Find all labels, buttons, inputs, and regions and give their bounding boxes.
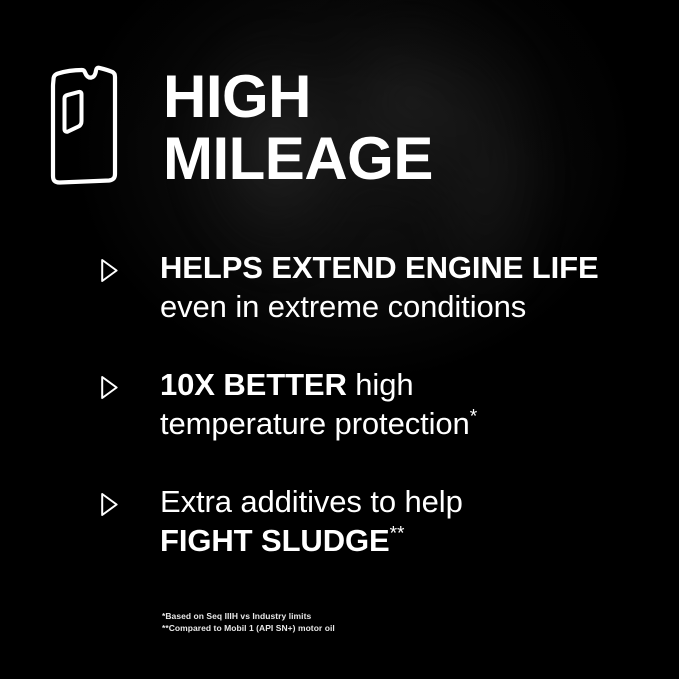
list-item-bold-text: FIGHT SLUDGE xyxy=(160,523,390,558)
footnote-line-2: **Compared to Mobil 1 (API SN+) motor oi… xyxy=(162,622,335,634)
product-feature-poster: HIGH MILEAGE HELPS EXTEND ENGINE LIFE ev… xyxy=(0,0,679,679)
triangle-outline-icon xyxy=(100,258,119,283)
list-item: HELPS EXTEND ENGINE LIFE even in extreme… xyxy=(0,248,679,326)
footnote-marker: ** xyxy=(390,524,405,545)
footnotes: *Based on Seq IIIH vs Industry limits **… xyxy=(162,610,335,634)
list-item-line-2: FIGHT SLUDGE** xyxy=(160,521,463,560)
list-item-bold-text: HELPS EXTEND ENGINE LIFE xyxy=(160,250,599,285)
oil-jug-icon xyxy=(48,62,120,188)
list-item-bold-text: 10X BETTER xyxy=(160,367,347,402)
triangle-outline-icon xyxy=(100,492,119,517)
list-item-regular-text: Extra additives to help xyxy=(160,484,463,519)
footnote-marker: * xyxy=(470,407,477,428)
list-item-text: 10X BETTER high temperature protection* xyxy=(160,365,477,443)
page-title: HIGH MILEAGE xyxy=(163,66,433,190)
list-item: Extra additives to help FIGHT SLUDGE** xyxy=(0,482,679,560)
list-item-line-2: temperature protection* xyxy=(160,404,477,443)
list-item-text: HELPS EXTEND ENGINE LIFE even in extreme… xyxy=(160,248,599,326)
footnote-line-1: *Based on Seq IIIH vs Industry limits xyxy=(162,610,335,622)
list-item-line-2: even in extreme conditions xyxy=(160,287,599,326)
title-line-1: HIGH xyxy=(163,66,433,128)
list-item-line-1: 10X BETTER high xyxy=(160,365,477,404)
title-line-2: MILEAGE xyxy=(163,128,433,190)
list-item-regular-text: high xyxy=(347,367,414,402)
list-item-line-1: Extra additives to help xyxy=(160,482,463,521)
list-item-regular-text: temperature protection xyxy=(160,406,470,441)
list-item-line-1: HELPS EXTEND ENGINE LIFE xyxy=(160,248,599,287)
list-item-text: Extra additives to help FIGHT SLUDGE** xyxy=(160,482,463,560)
triangle-outline-icon xyxy=(100,375,119,400)
list-item: 10X BETTER high temperature protection* xyxy=(0,365,679,443)
feature-bullet-list: HELPS EXTEND ENGINE LIFE even in extreme… xyxy=(0,248,679,599)
list-item-regular-text: even in extreme conditions xyxy=(160,289,526,324)
